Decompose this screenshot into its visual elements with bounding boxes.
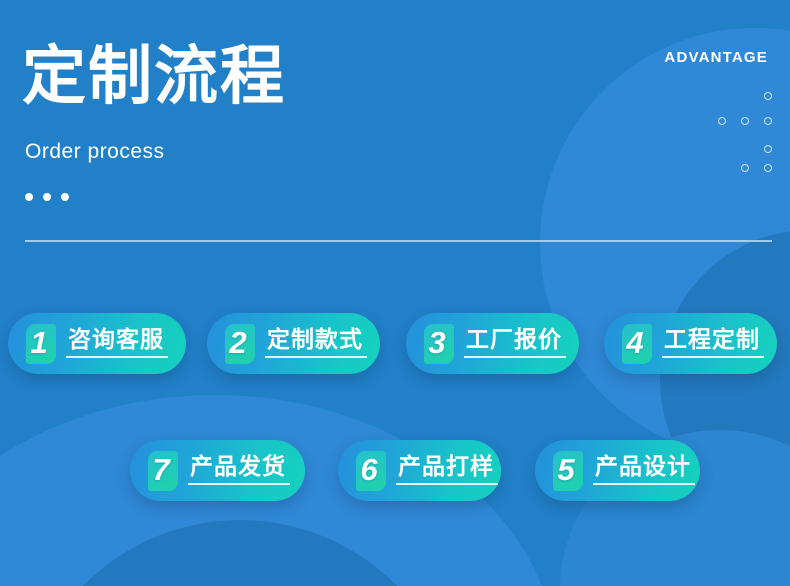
step-pill-4[interactable]: 4 工程定制 [604, 313, 777, 374]
page-subtitle: Order process [25, 139, 165, 165]
step-label-1: 咨询客服 [66, 326, 168, 358]
step-label-5: 产品设计 [593, 453, 695, 485]
step-pill-6[interactable]: 6 产品打样 [338, 440, 501, 501]
step-number-badge-1: 1 [26, 324, 56, 364]
corner-label: ADVANTAGE [664, 49, 768, 66]
step-number-3: 3 [428, 327, 445, 358]
step-pill-3[interactable]: 3 工厂报价 [406, 313, 579, 374]
header-divider [25, 240, 772, 242]
step-number-badge-3: 3 [424, 324, 454, 364]
step-number-badge-2: 2 [225, 324, 255, 364]
step-label-4: 工程定制 [662, 326, 764, 358]
page-title: 定制流程 [22, 38, 286, 114]
step-label-7: 产品发货 [188, 453, 290, 485]
order-process-banner: 定制流程 Order process ADVANTAGE 1 咨询客服 2 定制… [0, 0, 790, 586]
step-number-2: 2 [229, 327, 246, 358]
step-number-badge-4: 4 [622, 324, 652, 364]
step-number-1: 1 [30, 327, 47, 358]
step-number-5: 5 [557, 454, 574, 485]
step-number-badge-5: 5 [553, 451, 583, 491]
step-label-3: 工厂报价 [464, 326, 566, 358]
step-number-6: 6 [360, 454, 377, 485]
step-number-7: 7 [152, 454, 169, 485]
step-number-badge-7: 7 [148, 451, 178, 491]
three-dots-icon [25, 193, 69, 201]
step-pill-1[interactable]: 1 咨询客服 [8, 313, 186, 374]
circle-grid-icon [718, 92, 778, 172]
step-pill-7[interactable]: 7 产品发货 [130, 440, 305, 501]
step-label-2: 定制款式 [265, 326, 367, 358]
step-number-4: 4 [626, 327, 643, 358]
step-label-6: 产品打样 [396, 453, 498, 485]
step-pill-2[interactable]: 2 定制款式 [207, 313, 380, 374]
step-number-badge-6: 6 [356, 451, 386, 491]
step-pill-5[interactable]: 5 产品设计 [535, 440, 700, 501]
